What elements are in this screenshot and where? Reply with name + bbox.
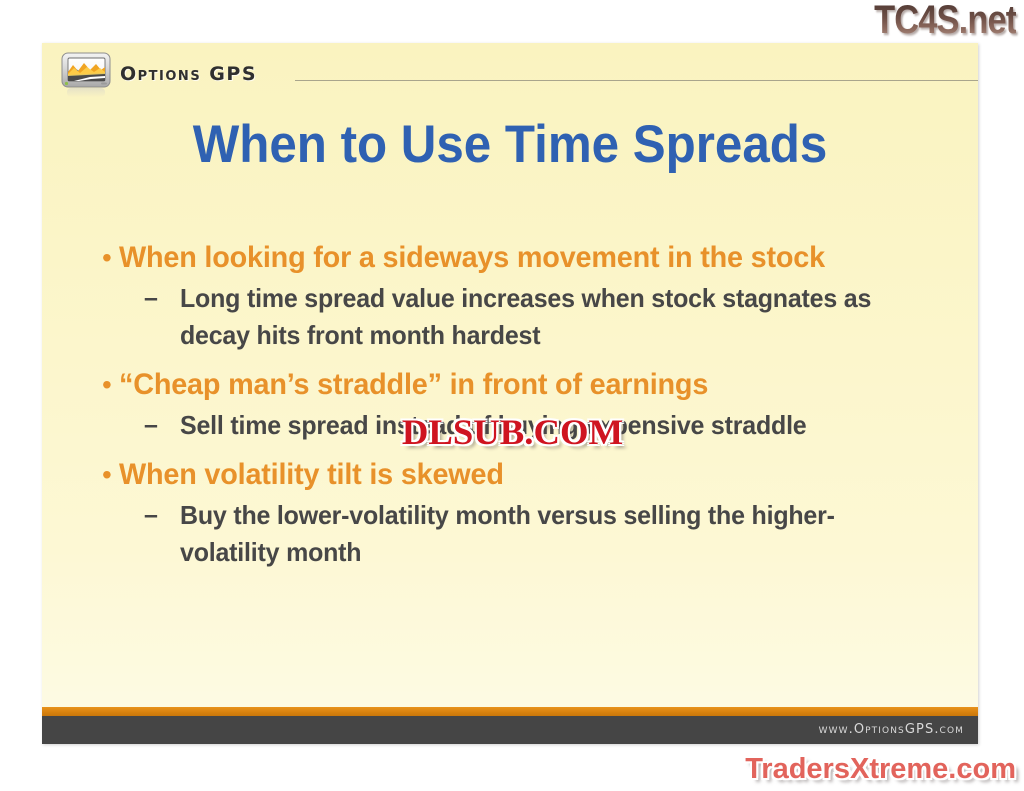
sub-list-item: – Buy the lower-volatility month versus … xyxy=(88,497,956,571)
gps-device-icon xyxy=(60,51,114,99)
bullet-dot-icon: • xyxy=(88,239,119,277)
tradersxtreme-watermark: TradersXtreme.com xyxy=(745,753,1016,785)
dlsub-watermark: DLSUB.COM xyxy=(402,414,623,450)
sub-bullet-text: Buy the lower-volatility month versus se… xyxy=(180,497,925,571)
bullet-group: • When volatility tilt is skewed – Buy t… xyxy=(88,456,956,571)
page-title: When to Use Time Spreads xyxy=(75,115,945,175)
slide-header: Options GPS xyxy=(42,43,978,105)
sub-bullet-text: Long time spread value increases when st… xyxy=(180,280,925,354)
bullet-dot-icon: • xyxy=(88,366,119,404)
list-item: • When looking for a sideways movement i… xyxy=(88,239,956,277)
footer-url-label: www.OptionsGPS.com xyxy=(819,722,964,737)
bullet-list: • When looking for a sideways movement i… xyxy=(88,239,956,575)
dash-bullet-icon: – xyxy=(144,280,180,317)
slide-footer: www.OptionsGPS.com xyxy=(42,716,978,744)
tc4s-watermark: TC4S.net xyxy=(874,0,1016,42)
brand-label: Options GPS xyxy=(120,63,257,85)
bullet-text: When looking for a sideways movement in … xyxy=(119,239,923,277)
dash-bullet-icon: – xyxy=(144,497,180,534)
bullet-text: When volatility tilt is skewed xyxy=(119,456,923,494)
footer-accent-bar xyxy=(42,707,978,716)
bullet-dot-icon: • xyxy=(88,456,119,494)
presentation-slide: Options GPS When to Use Time Spreads • W… xyxy=(42,43,978,744)
spacer xyxy=(88,358,956,366)
list-item: • “Cheap man’s straddle” in front of ear… xyxy=(88,366,956,404)
list-item: • When volatility tilt is skewed xyxy=(88,456,956,494)
bullet-group: • When looking for a sideways movement i… xyxy=(88,239,956,354)
bullet-text: “Cheap man’s straddle” in front of earni… xyxy=(119,366,923,404)
header-divider xyxy=(295,80,978,81)
dash-bullet-icon: – xyxy=(144,407,180,444)
sub-list-item: – Long time spread value increases when … xyxy=(88,280,956,354)
